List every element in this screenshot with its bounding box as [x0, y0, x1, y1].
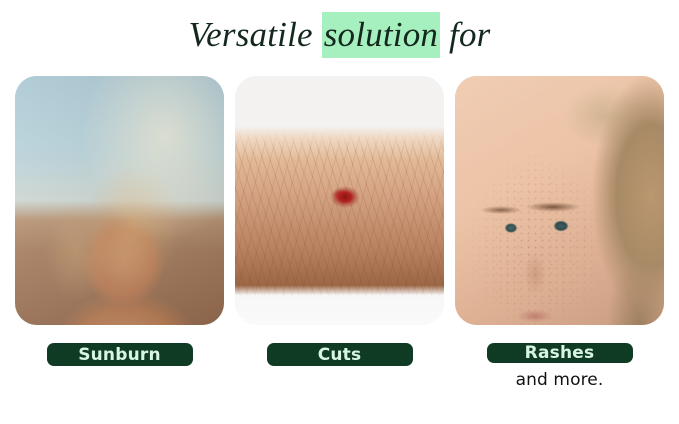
- freckled-face-closeup-photo: [455, 76, 664, 325]
- label-row: Sunburn Cuts Rashes and more.: [15, 343, 664, 373]
- page-title-after: for: [440, 15, 490, 54]
- cut-on-forearm-photo: [235, 76, 444, 325]
- label-pill-cuts[interactable]: Cuts: [267, 343, 413, 366]
- sunburned-woman-beach-photo: [15, 76, 224, 325]
- image-card-sunburn[interactable]: [15, 76, 224, 325]
- image-card-rashes[interactable]: [455, 76, 664, 325]
- label-column-rashes: Rashes and more.: [455, 343, 664, 373]
- page-title-highlight: solution: [322, 12, 440, 58]
- page-title: Versatile solution for: [0, 12, 679, 58]
- page-title-before: Versatile: [188, 15, 321, 54]
- label-pill-rashes[interactable]: Rashes: [487, 343, 633, 363]
- footnote-and-more: and more.: [516, 370, 604, 390]
- image-card-cuts[interactable]: [235, 76, 444, 325]
- image-card-row: [15, 76, 664, 325]
- label-column-cuts: Cuts: [235, 343, 444, 373]
- label-column-sunburn: Sunburn: [15, 343, 224, 373]
- label-pill-sunburn[interactable]: Sunburn: [47, 343, 193, 366]
